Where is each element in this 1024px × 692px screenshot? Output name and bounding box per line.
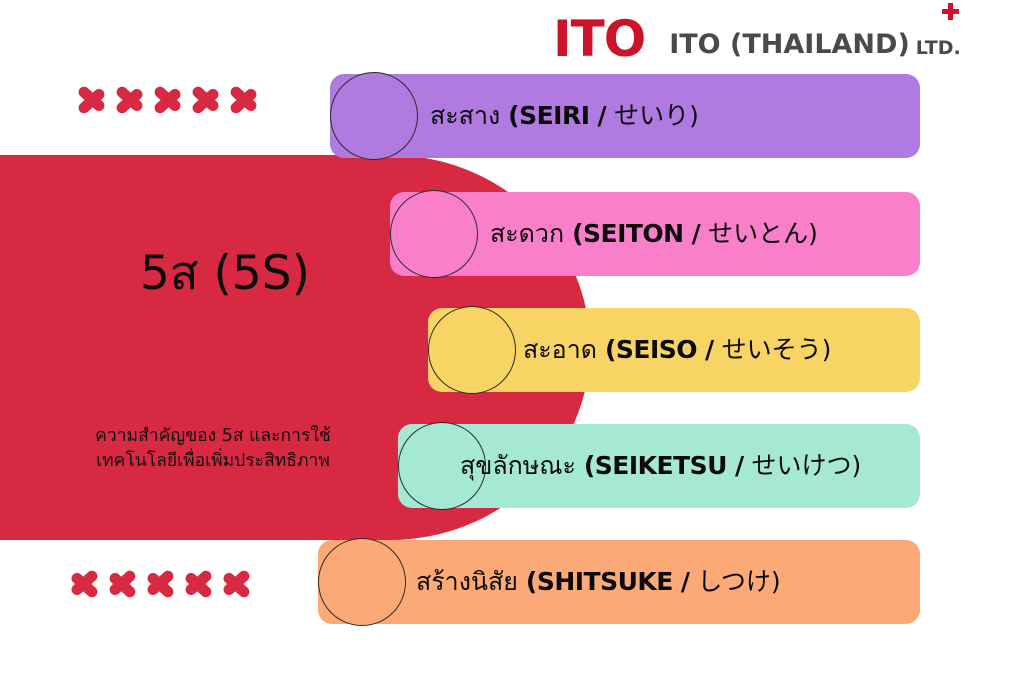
chevron-right-icon-group: [78, 72, 268, 128]
step-label-separator: /: [705, 335, 714, 364]
page-subtitle-line-1: ความสำคัญของ 5ส และการใช้: [28, 424, 398, 449]
chevron-right-icon: [192, 72, 218, 128]
step-label-separator: /: [681, 567, 690, 596]
ito-logo-mark: ITO: [553, 16, 661, 62]
step-label-kana: せいそう): [722, 335, 832, 364]
step-row[interactable]: สร้างนิสัย (SHITSUKE / しつけ): [318, 540, 920, 624]
step-label-romaji: (SHITSUKE: [526, 567, 673, 596]
chevron-right-icon: [230, 72, 256, 128]
company-logo: ITO ITO (THAILAND) LTD.: [553, 8, 961, 62]
step-label-thai: สะอาด: [523, 335, 597, 364]
step-label: สร้างนิสัย (SHITSUKE / しつけ): [416, 568, 781, 596]
step-label-romaji: (SEISO: [605, 335, 697, 364]
chevron-left-icon: [72, 556, 98, 612]
chevron-left-icon: [110, 556, 136, 612]
step-label-romaji: (SEIKETSU: [584, 451, 727, 480]
step-label-separator: /: [735, 451, 744, 480]
chevron-right-icon: [78, 72, 104, 128]
step-bubble: [428, 306, 516, 394]
step-label: สะอาด (SEISO / せいそう): [523, 336, 831, 364]
chevron-left-icon: [186, 556, 212, 612]
page-subtitle-line-2: เทคโนโลยีเพื่อเพิ่มประสิทธิภาพ: [28, 449, 398, 474]
step-label: สะสาง (SEIRI / せいり): [430, 102, 699, 130]
step-row[interactable]: สุขลักษณะ (SEIKETSU / せいけつ): [398, 424, 920, 508]
company-name: ITO (THAILAND): [669, 30, 910, 60]
step-label-thai: สุขลักษณะ: [460, 451, 576, 480]
step-row[interactable]: สะสาง (SEIRI / せいり): [330, 74, 920, 158]
step-label-kana: せいとん): [708, 219, 818, 248]
chevron-right-icon: [154, 72, 180, 128]
chevron-left-icon: [148, 556, 174, 612]
step-label: สะดวก (SEITON / せいとん): [490, 220, 818, 248]
step-label-kana: しつけ): [697, 567, 780, 596]
chevron-left-icon-group: [72, 556, 262, 612]
infographic-canvas: ITO ITO (THAILAND) LTD. 5ส (5S) ความสำคั…: [0, 0, 1024, 692]
step-label-romaji: (SEIRI: [508, 101, 589, 130]
chevron-left-icon: [224, 556, 250, 612]
step-label-separator: /: [692, 219, 701, 248]
step-label-kana: せいり): [614, 101, 699, 130]
plus-icon: [942, 3, 959, 20]
chevron-right-icon: [116, 72, 142, 128]
step-label-thai: สะสาง: [430, 101, 500, 130]
step-label-thai: สะดวก: [490, 219, 564, 248]
company-suffix: LTD.: [916, 37, 961, 59]
step-label-kana: せいけつ): [752, 451, 862, 480]
page-title: 5ส (5S): [0, 248, 450, 300]
step-bubble: [318, 538, 406, 626]
step-label: สุขลักษณะ (SEIKETSU / せいけつ): [460, 452, 861, 480]
page-subtitle: ความสำคัญของ 5ส และการใช้ เทคโนโลยีเพื่อ…: [28, 424, 398, 474]
step-label-romaji: (SEITON: [572, 219, 684, 248]
step-bubble: [330, 72, 418, 160]
step-row[interactable]: สะดวก (SEITON / せいとん): [390, 192, 920, 276]
step-row[interactable]: สะอาด (SEISO / せいそう): [428, 308, 920, 392]
step-label-thai: สร้างนิสัย: [416, 567, 518, 596]
step-label-separator: /: [597, 101, 606, 130]
